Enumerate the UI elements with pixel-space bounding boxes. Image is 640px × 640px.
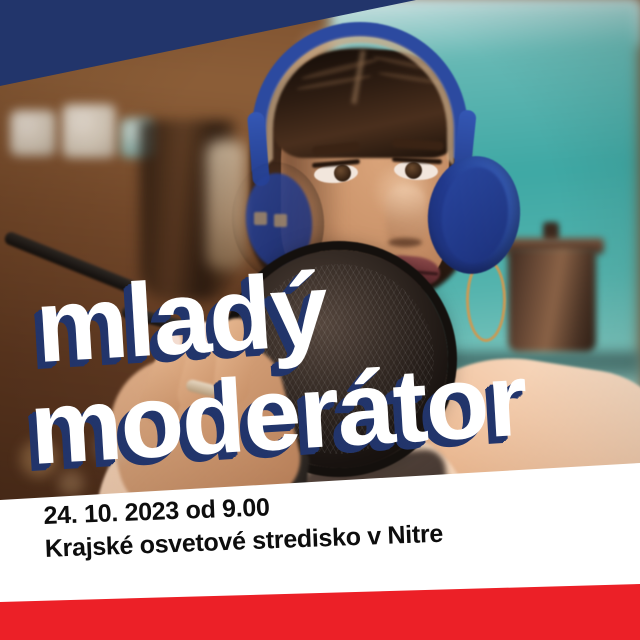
bokeh-light [96, 432, 126, 462]
event-poster: mladý moderátor 24. 10. 2023 od 9.00 Kra… [0, 0, 640, 640]
bokeh-light [58, 470, 84, 496]
headphone-detail [274, 214, 287, 227]
bokeh-light [20, 440, 58, 478]
nostrils [388, 238, 422, 247]
headphone-detail [254, 212, 267, 225]
